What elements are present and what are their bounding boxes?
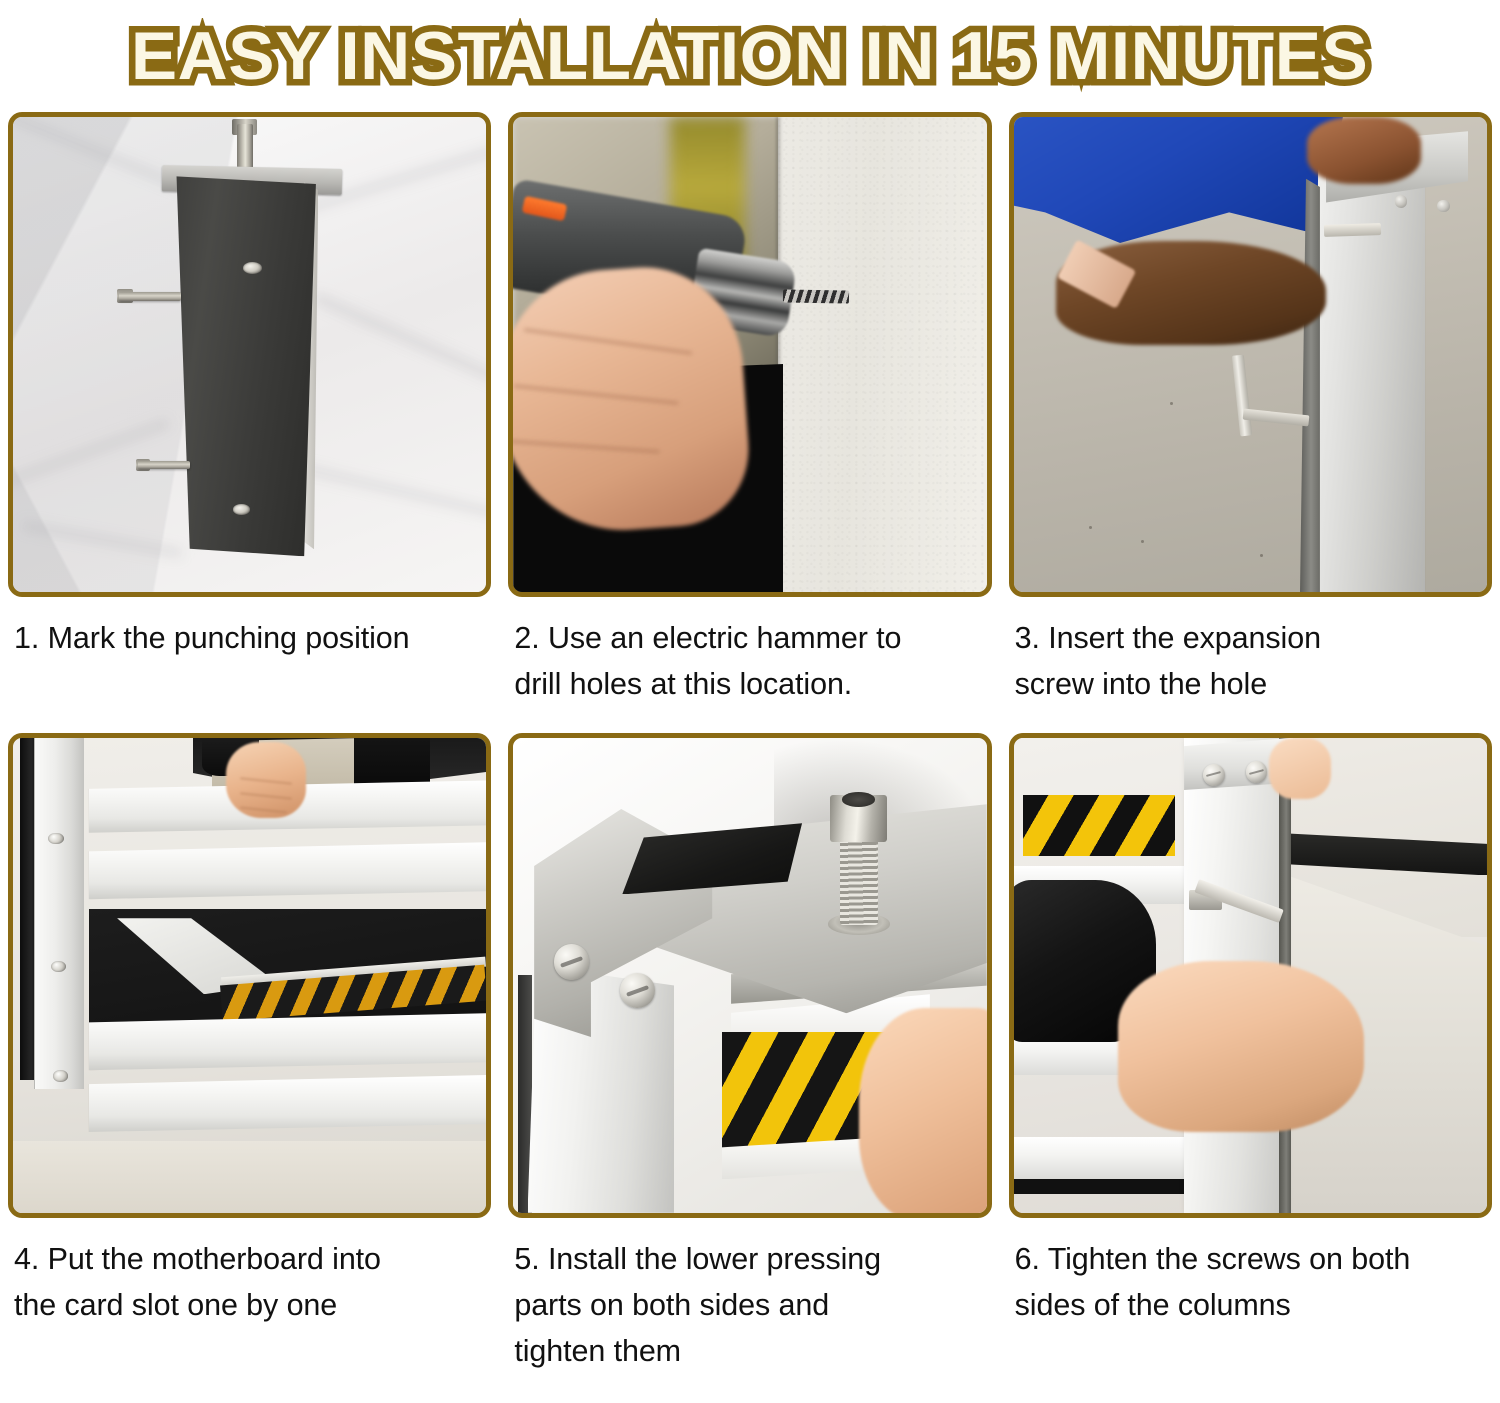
phillips-screw-icon — [554, 944, 589, 980]
textured-wall — [778, 117, 986, 592]
operator-hand — [859, 1008, 987, 1212]
phillips-screw-icon — [1203, 764, 1225, 786]
top-bolt-shaft — [237, 124, 253, 169]
hand-tool — [1323, 223, 1380, 237]
drill-bit — [783, 290, 849, 304]
operator-hand — [1118, 961, 1364, 1132]
step-photo-4 — [8, 733, 491, 1218]
column-screw-hole — [48, 833, 63, 844]
step-photo-6 — [1009, 733, 1492, 1218]
mounting-hole — [233, 504, 250, 514]
step-caption-2: 2. Use an electric hammer to drill holes… — [508, 597, 991, 708]
caption-line: 1. Mark the punching position — [14, 615, 487, 661]
bolt-hex-socket — [842, 792, 875, 806]
caption-line: the card slot one by one — [14, 1282, 487, 1328]
step-photo-2 — [508, 112, 991, 597]
expansion-screw — [1437, 200, 1449, 212]
barrier-board — [1014, 1137, 1184, 1180]
barrier-board — [89, 1075, 487, 1132]
column-post-body — [169, 176, 316, 556]
floor-speck — [1260, 554, 1263, 557]
steps-grid-row-1: 1. Mark the punching position 2. — [0, 112, 1500, 708]
step-photo-3 — [1009, 112, 1492, 597]
aluminum-column — [1312, 136, 1426, 592]
step-card-5: 5. Install the lower pressing parts on b… — [508, 733, 991, 1375]
photo-6-scene — [1014, 738, 1487, 1213]
photo-2-scene — [513, 117, 986, 592]
photo-1-scene — [13, 117, 486, 592]
step-photo-1 — [8, 112, 491, 597]
step-caption-4: 4. Put the motherboard into the card slo… — [8, 1218, 491, 1329]
caption-line: 6. Tighten the screws on both — [1015, 1236, 1488, 1282]
hazard-stripe-band — [1023, 795, 1174, 857]
floor-speck — [1170, 402, 1173, 405]
step-card-3: 3. Insert the expansion screw into the h… — [1009, 112, 1492, 708]
caption-line: drill holes at this location. — [514, 661, 987, 707]
expansion-screw — [1395, 195, 1407, 207]
worker-second-hand — [1307, 117, 1421, 184]
step-card-1: 1. Mark the punching position — [8, 112, 491, 708]
marking-pin — [119, 292, 181, 301]
floor-surface — [13, 1141, 486, 1212]
board-dark-edge — [1014, 1179, 1184, 1193]
column-screw-hole — [53, 1070, 68, 1081]
caption-line: 2. Use an electric hammer to — [514, 615, 987, 661]
barrier-board — [89, 842, 487, 899]
header-banner: EASY INSTALLATION IN 15 MINUTES — [0, 0, 1500, 112]
page-title: EASY INSTALLATION IN 15 MINUTES — [131, 22, 1368, 90]
operator-second-hand — [1269, 738, 1331, 800]
column-card-slot — [34, 738, 84, 1090]
caption-line: tighten them — [514, 1328, 987, 1374]
photo-5-scene — [513, 738, 986, 1213]
step-card-6: 6. Tighten the screws on both sides of t… — [1009, 733, 1492, 1375]
step-caption-5: 5. Install the lower pressing parts on b… — [508, 1218, 991, 1375]
step-caption-3: 3. Insert the expansion screw into the h… — [1009, 597, 1492, 708]
caption-line: screw into the hole — [1015, 661, 1488, 707]
caption-line: parts on both sides and — [514, 1282, 987, 1328]
step-caption-1: 1. Mark the punching position — [8, 597, 491, 661]
photo-3-scene — [1014, 117, 1487, 592]
steps-grid-row-2: 4. Put the motherboard into the card slo… — [0, 733, 1500, 1375]
step-photo-5 — [508, 733, 991, 1218]
barrier-board — [89, 1013, 487, 1070]
caption-line: 4. Put the motherboard into — [14, 1236, 487, 1282]
step-card-2: 2. Use an electric hammer to drill holes… — [508, 112, 991, 708]
photo-4-scene — [13, 738, 486, 1213]
row-divider-space — [0, 708, 1500, 733]
caption-line: sides of the columns — [1015, 1282, 1488, 1328]
caption-line: 3. Insert the expansion — [1015, 615, 1488, 661]
marking-pin — [138, 461, 190, 469]
caption-line: 5. Install the lower pressing — [514, 1236, 987, 1282]
step-card-4: 4. Put the motherboard into the card slo… — [8, 733, 491, 1375]
step-caption-6: 6. Tighten the screws on both sides of t… — [1009, 1218, 1492, 1329]
